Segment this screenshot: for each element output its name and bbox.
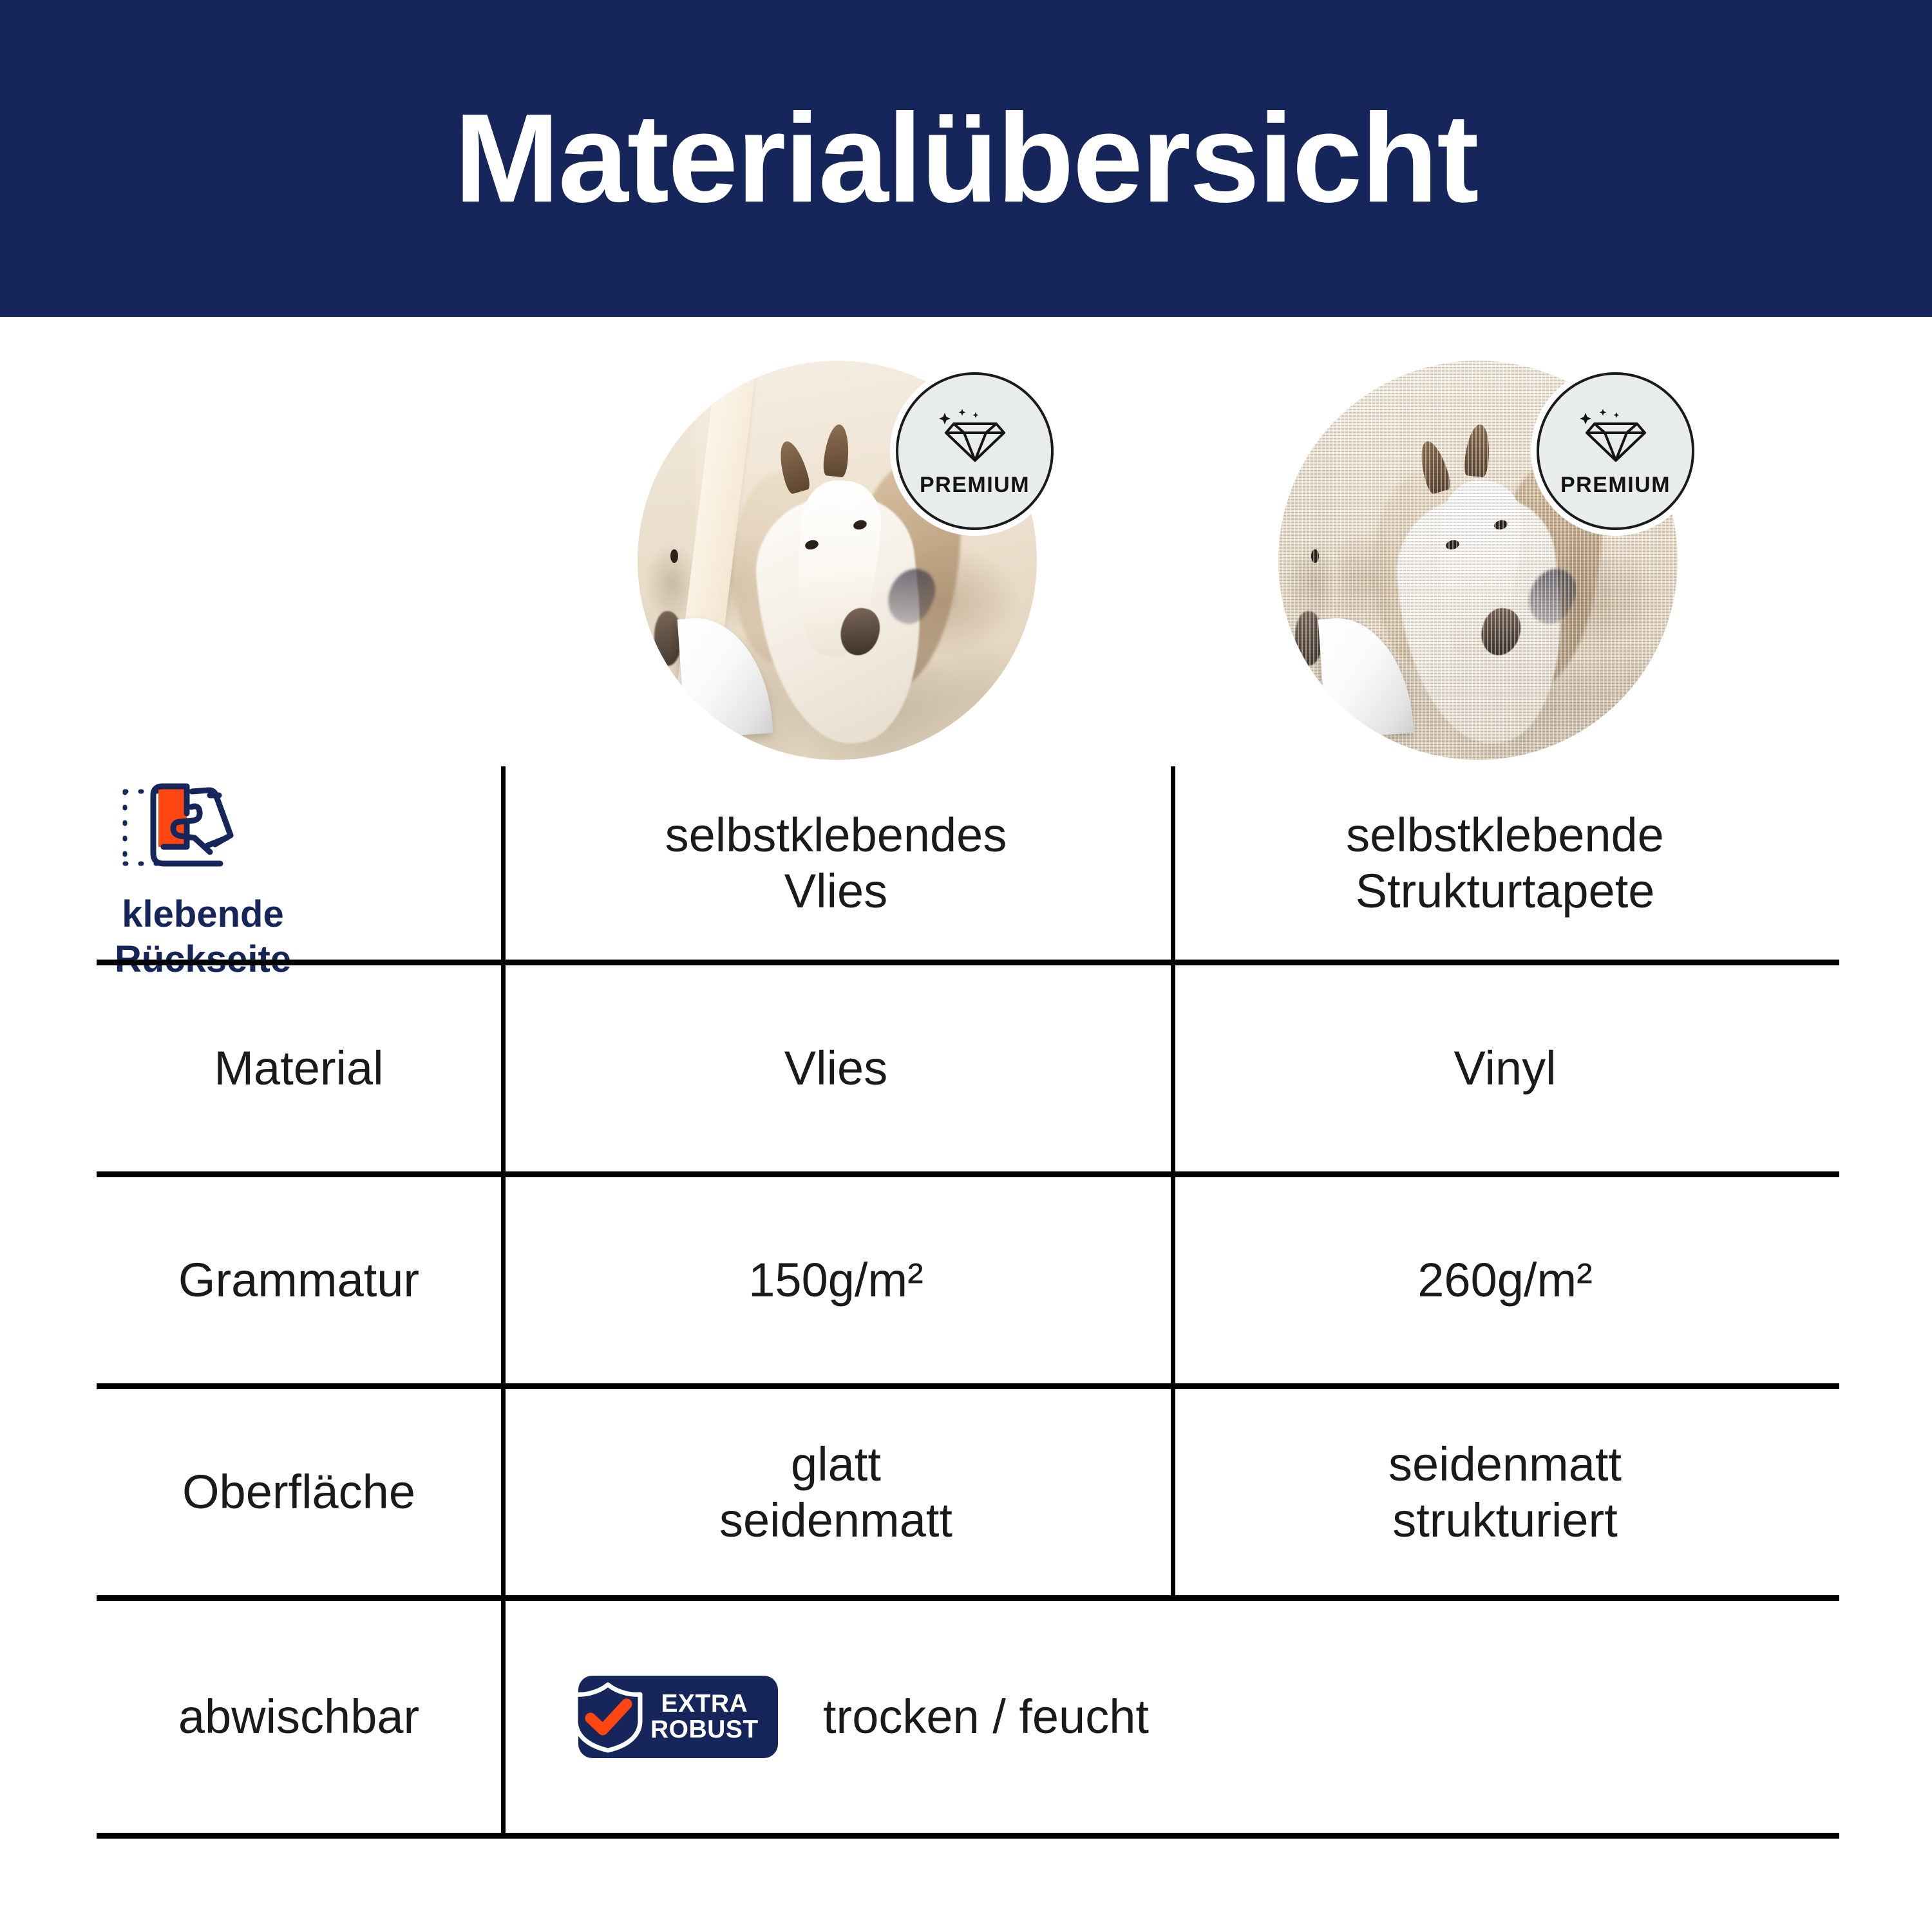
sliver-horse-eye [1311, 549, 1319, 563]
cell-grammatur-vlies: 150g/m² [501, 1177, 1171, 1383]
material-spec-table: selbstklebendes Vlies selbstklebende Str… [97, 766, 1839, 1839]
table-row: Material Vlies Vinyl [97, 965, 1839, 1177]
cell-oberflaeche-struktur: seidenmatt strukturiert [1171, 1389, 1839, 1595]
diamond-icon [937, 409, 1013, 466]
column-divider-1 [501, 1389, 506, 1595]
cell-oberflaeche-vlies-line2: seidenmatt [719, 1492, 952, 1548]
extra-robust-line2: ROBUST [650, 1717, 759, 1743]
header-cell-label [97, 766, 501, 960]
cell-oberflaeche-struktur-line1: seidenmatt [1388, 1436, 1622, 1492]
cell-material-struktur: Vinyl [1171, 965, 1839, 1171]
cell-oberflaeche-vlies-line1: glatt [719, 1436, 952, 1492]
cell-oberflaeche-vlies: glatt seidenmatt [501, 1389, 1171, 1595]
header-cell-strukturtapete: selbstklebende Strukturtapete [1171, 766, 1839, 960]
extra-robust-line1: EXTRA [650, 1691, 759, 1717]
abwischbar-value-text: trocken / feucht [823, 1689, 1149, 1745]
premium-badge-label: PREMIUM [1560, 473, 1671, 498]
column-divider-1 [501, 1177, 506, 1383]
table-row: Oberfläche glatt seidenmatt seidenmatt s… [97, 1389, 1839, 1601]
diamond-icon [1578, 409, 1654, 466]
cell-grammatur-struktur: 260g/m² [1171, 1177, 1839, 1383]
extra-robust-badge: EXTRA ROBUST [578, 1676, 778, 1758]
table-row: Grammatur 150g/m² 260g/m² [97, 1177, 1839, 1389]
header-vlies-line1: selbstklebendes [665, 807, 1007, 863]
horse-ear-right [822, 423, 851, 477]
column-divider-2 [1171, 1177, 1175, 1383]
column-divider-1 [501, 965, 506, 1171]
horse-ear-right [1463, 423, 1492, 477]
premium-badge-vlies: PREMIUM [896, 372, 1054, 530]
cell-material-vlies: Vlies [501, 965, 1171, 1171]
product-swatch-strukturtapete: PREMIUM [1278, 361, 1678, 760]
column-divider-1 [501, 1601, 506, 1833]
header-vlies-line2: Vlies [665, 863, 1007, 919]
cell-oberflaeche-struktur-line2: strukturiert [1388, 1492, 1622, 1548]
header-struktur-line1: selbstklebende [1346, 807, 1664, 863]
table-row-wipeable: abwischbar EXTRA ROBUST trocken / feucht [97, 1601, 1839, 1839]
row-label-oberflaeche: Oberfläche [97, 1389, 501, 1595]
column-divider-2 [1171, 965, 1175, 1171]
sliver-horse-eye [670, 549, 678, 563]
product-swatch-vlies: PREMIUM [638, 361, 1037, 760]
premium-badge-strukturtapete: PREMIUM [1537, 372, 1694, 530]
header-cell-vlies: selbstklebendes Vlies [501, 766, 1171, 960]
header-banner: Materialübersicht [0, 0, 1932, 317]
shield-check-icon [569, 1681, 647, 1765]
material-overview-page: Materialübersicht [0, 0, 1932, 1932]
premium-badge-label: PREMIUM [920, 473, 1030, 498]
cell-abwischbar-value: EXTRA ROBUST trocken / feucht [501, 1601, 1839, 1833]
column-divider-2 [1171, 1389, 1175, 1595]
row-label-grammatur: Grammatur [97, 1177, 501, 1383]
row-label-material: Material [97, 965, 501, 1171]
page-title: Materialübersicht [455, 95, 1478, 222]
row-label-abwischbar: abwischbar [97, 1601, 501, 1833]
table-header-row: selbstklebendes Vlies selbstklebende Str… [97, 766, 1839, 965]
column-divider-2 [1171, 766, 1175, 960]
column-divider-1 [501, 766, 506, 960]
header-struktur-line2: Strukturtapete [1346, 863, 1664, 919]
extra-robust-badge-text: EXTRA ROBUST [650, 1691, 759, 1743]
